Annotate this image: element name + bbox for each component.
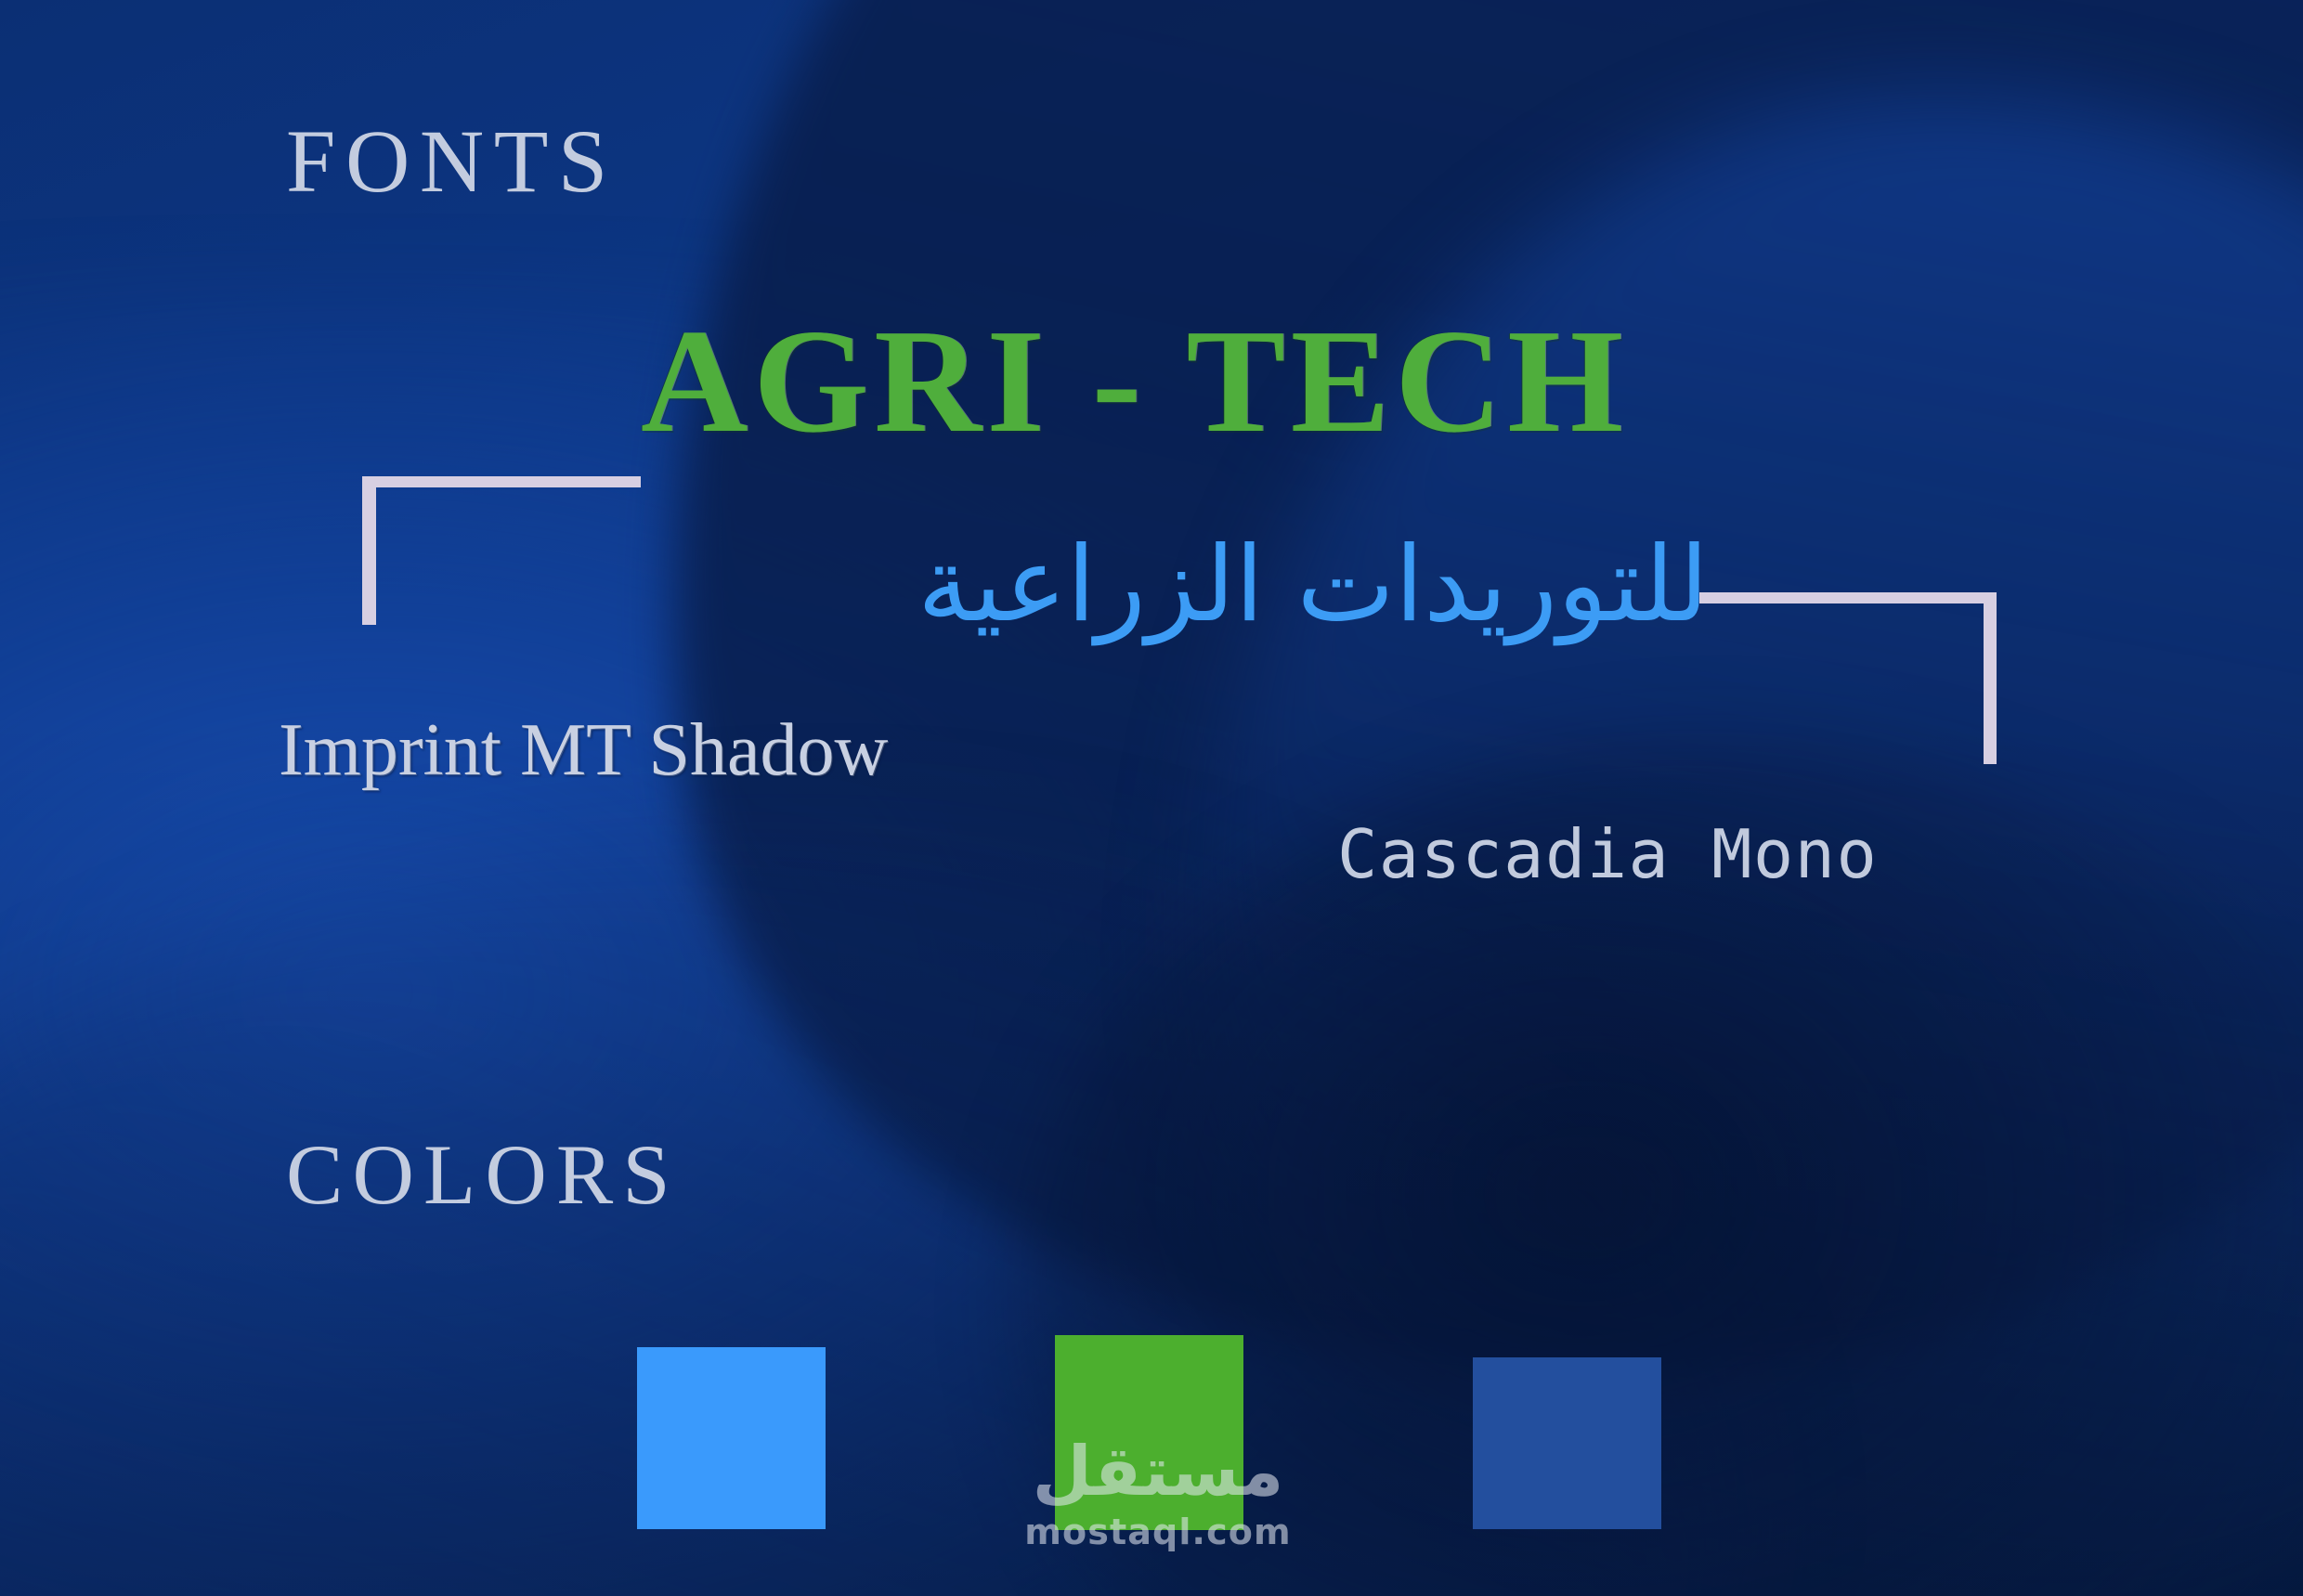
connector-bracket-left bbox=[362, 476, 641, 625]
color-swatch-light-blue bbox=[637, 1347, 826, 1529]
color-swatch-indigo-blue bbox=[1473, 1357, 1661, 1529]
connector-bracket-right bbox=[1699, 592, 1997, 764]
font-label-serif: Imprint MT Shadow bbox=[279, 708, 888, 793]
logo-arabic-tagline: للتوريدات الزراعية bbox=[650, 520, 1709, 650]
color-swatch-green bbox=[1055, 1335, 1243, 1530]
content-layer: FONTS AGRI - TECH للتوريدات الزراعية Imp… bbox=[0, 0, 2303, 1596]
logo-latin-wordmark: AGRI - TECH bbox=[641, 295, 1628, 467]
fonts-section-heading: FONTS bbox=[286, 110, 618, 213]
connector-left-horizontal-bar bbox=[362, 476, 641, 487]
connector-right-vertical-bar bbox=[1984, 592, 1997, 764]
connector-right-horizontal-bar bbox=[1699, 592, 1997, 603]
brand-style-guide-canvas: FONTS AGRI - TECH للتوريدات الزراعية Imp… bbox=[0, 0, 2303, 1596]
colors-section-heading: COLORS bbox=[286, 1125, 680, 1224]
connector-left-vertical-bar bbox=[362, 476, 376, 625]
font-label-mono: Cascadia Mono bbox=[1337, 815, 1878, 893]
